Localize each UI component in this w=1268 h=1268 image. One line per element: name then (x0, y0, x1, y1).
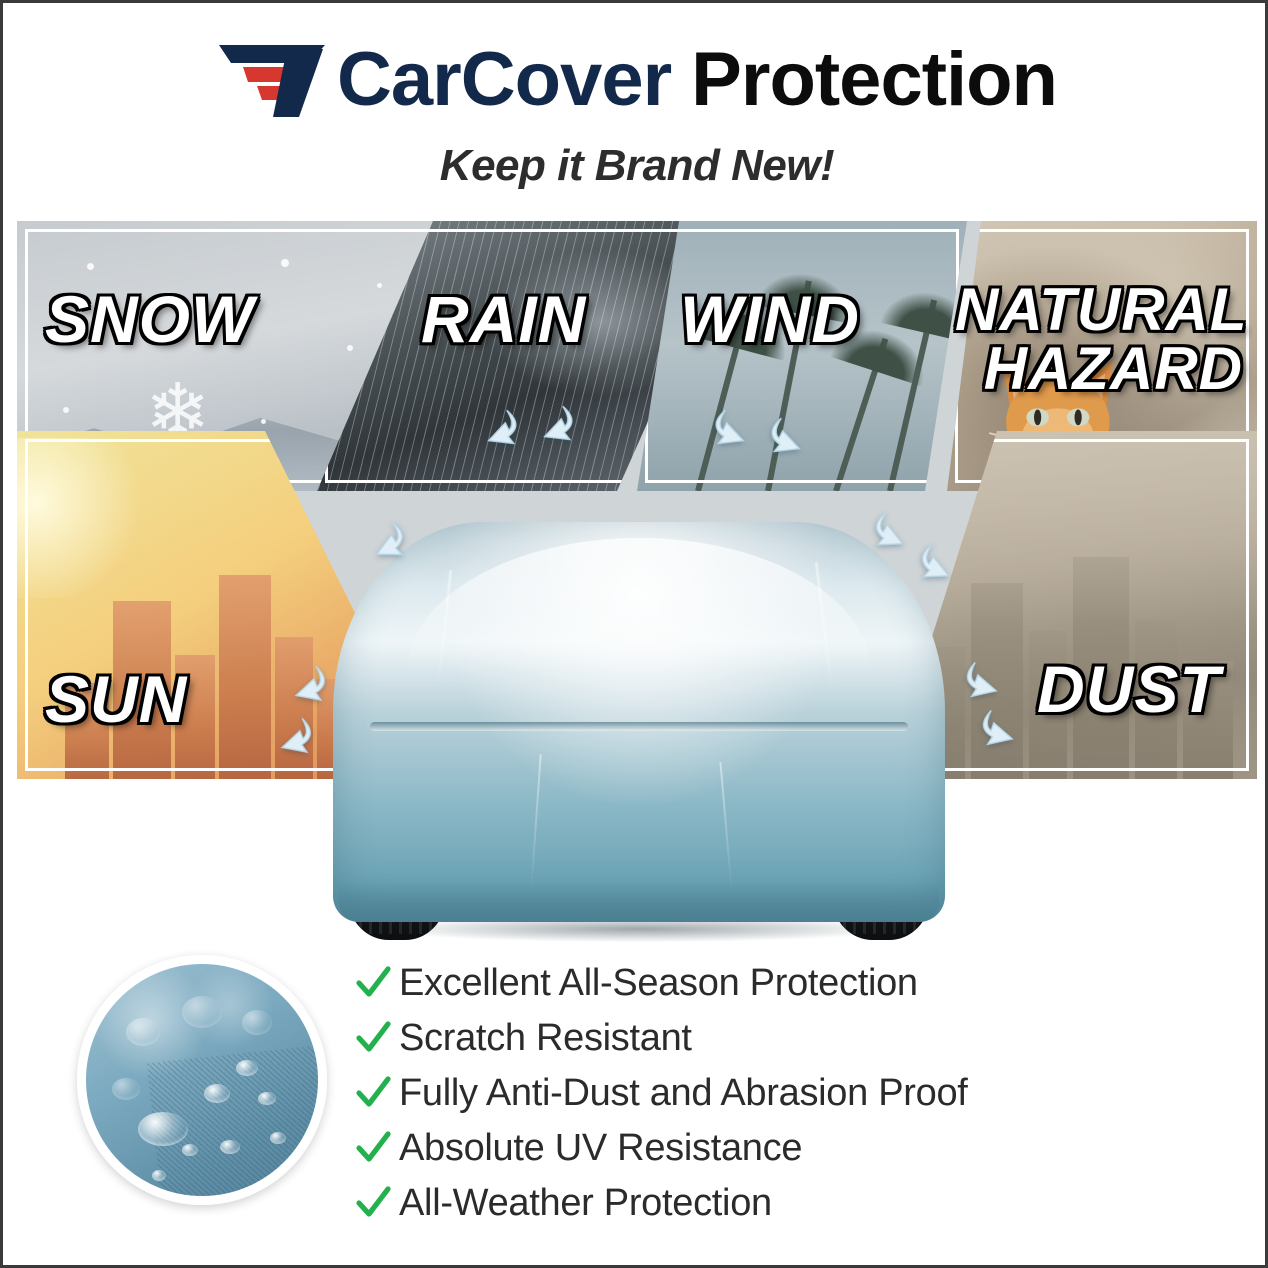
deflect-arrow-icon (533, 399, 590, 456)
water-drop (270, 1132, 286, 1144)
green-check-icon (347, 1184, 399, 1222)
water-drop (242, 1010, 272, 1035)
water-drop (236, 1060, 258, 1076)
feature-item: Fully Anti-Dust and Abrasion Proof (347, 1065, 1167, 1120)
snow-dot (87, 263, 94, 270)
panel-label-sun: SUN (45, 667, 187, 732)
snow-dot (63, 407, 69, 413)
water-drop (220, 1140, 240, 1154)
feature-list: Excellent All-Season Protection Scratch … (347, 955, 1167, 1230)
snow-dot (377, 283, 382, 288)
deflect-arrow-icon (477, 403, 534, 460)
water-beading-fabric-circle-icon (77, 955, 327, 1205)
cover-crease (719, 762, 732, 890)
feature-label: Excellent All-Season Protection (399, 964, 918, 1002)
panel-label-snow: SNOW (45, 287, 254, 352)
cover-crease (530, 754, 541, 890)
green-check-icon (347, 964, 399, 1002)
deflect-arrow-icon (272, 712, 326, 766)
water-drop (112, 1078, 140, 1100)
icarcover-wing-logo-icon (217, 41, 335, 119)
building (219, 575, 271, 779)
cover-hem (339, 882, 939, 922)
water-drop (258, 1092, 276, 1105)
snow-dot (281, 259, 289, 267)
green-check-icon (347, 1129, 399, 1167)
water-drop (138, 1112, 188, 1146)
water-drop (182, 1144, 198, 1156)
cover-seam (370, 722, 909, 731)
green-check-icon (347, 1019, 399, 1057)
cover-roof-highlight (406, 538, 871, 674)
product-marketing-image: CarCoverProtection Keep it Brand New! ❄ (0, 0, 1268, 1268)
car-cover-body (333, 522, 945, 922)
deflect-arrow-icon (286, 660, 340, 714)
deflect-arrow-icon (969, 705, 1022, 758)
panel-label-natural-hazard: NATURAL HAZARD (955, 281, 1243, 399)
feature-label: Absolute UV Resistance (399, 1129, 802, 1167)
panel-label-rain: RAIN (421, 287, 586, 352)
feature-item: All-Weather Protection (347, 1175, 1167, 1230)
feature-label: Scratch Resistant (399, 1019, 692, 1057)
brand-name: CarCover (337, 37, 671, 122)
snow-dot (261, 419, 266, 424)
feature-item: Scratch Resistant (347, 1010, 1167, 1065)
snow-dot (347, 345, 353, 351)
panel-label-wind: WIND (680, 287, 860, 352)
tagline: Keep it Brand New! (3, 141, 1268, 191)
deflect-arrow-icon (699, 403, 756, 460)
panel-label-dust: DUST (1037, 657, 1221, 722)
feature-label: Fully Anti-Dust and Abrasion Proof (399, 1074, 968, 1112)
sun-glow-icon (17, 438, 151, 598)
feature-item: Absolute UV Resistance (347, 1120, 1167, 1175)
green-check-icon (347, 1074, 399, 1112)
header: CarCoverProtection (3, 25, 1268, 135)
car-with-cover (333, 443, 945, 948)
water-drop (126, 1018, 160, 1046)
brand-word: Protection (691, 37, 1057, 122)
feature-label: All-Weather Protection (399, 1184, 772, 1222)
water-drop (204, 1084, 230, 1103)
header-title: CarCoverProtection (337, 42, 1057, 118)
feature-item: Excellent All-Season Protection (347, 955, 1167, 1010)
deflect-arrow-icon (953, 657, 1006, 710)
water-drop (152, 1170, 166, 1181)
deflect-arrow-icon (755, 411, 812, 468)
water-drop (182, 996, 222, 1028)
